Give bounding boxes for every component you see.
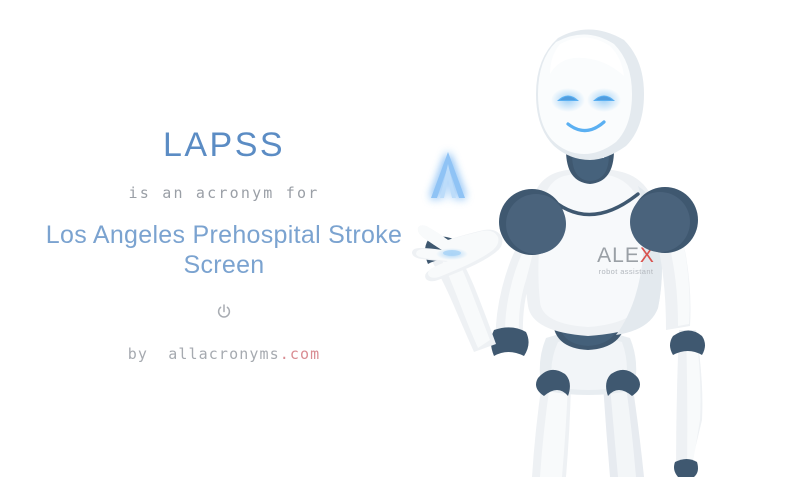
acronym-card: LAPSS is an acronym for Los Angeles Preh… [0, 0, 801, 477]
robot-svg: ALEX robot assistant [390, 0, 801, 477]
robot-left-leg [532, 382, 571, 477]
robot-left-elbow-joint [491, 327, 529, 356]
robot-left-leg-second [603, 382, 644, 477]
site-byline: by allacronyms.com [128, 345, 321, 363]
page-title: LAPSS [163, 128, 285, 164]
chevron-up-icon [408, 136, 488, 216]
robot-chest-label: ALEX robot assistant [597, 244, 655, 276]
robot-tagline-text: robot assistant [599, 267, 654, 276]
power-icon [215, 303, 233, 321]
byline-site-tld: .com [280, 345, 321, 363]
acronym-text-column: LAPSS is an acronym for Los Angeles Preh… [0, 0, 448, 477]
robot-right-leg [670, 330, 705, 477]
floating-chevron-glyph [408, 136, 488, 216]
byline-by-label: by [128, 345, 148, 363]
byline-site-name: allacronyms [168, 345, 279, 363]
robot-illustration: ALEX robot assistant [390, 0, 801, 477]
robot-head [536, 29, 644, 160]
acronym-connector-label: is an acronym for [129, 184, 320, 202]
acronym-expansion: Los Angeles Prehospital Stroke Screen [24, 220, 424, 281]
